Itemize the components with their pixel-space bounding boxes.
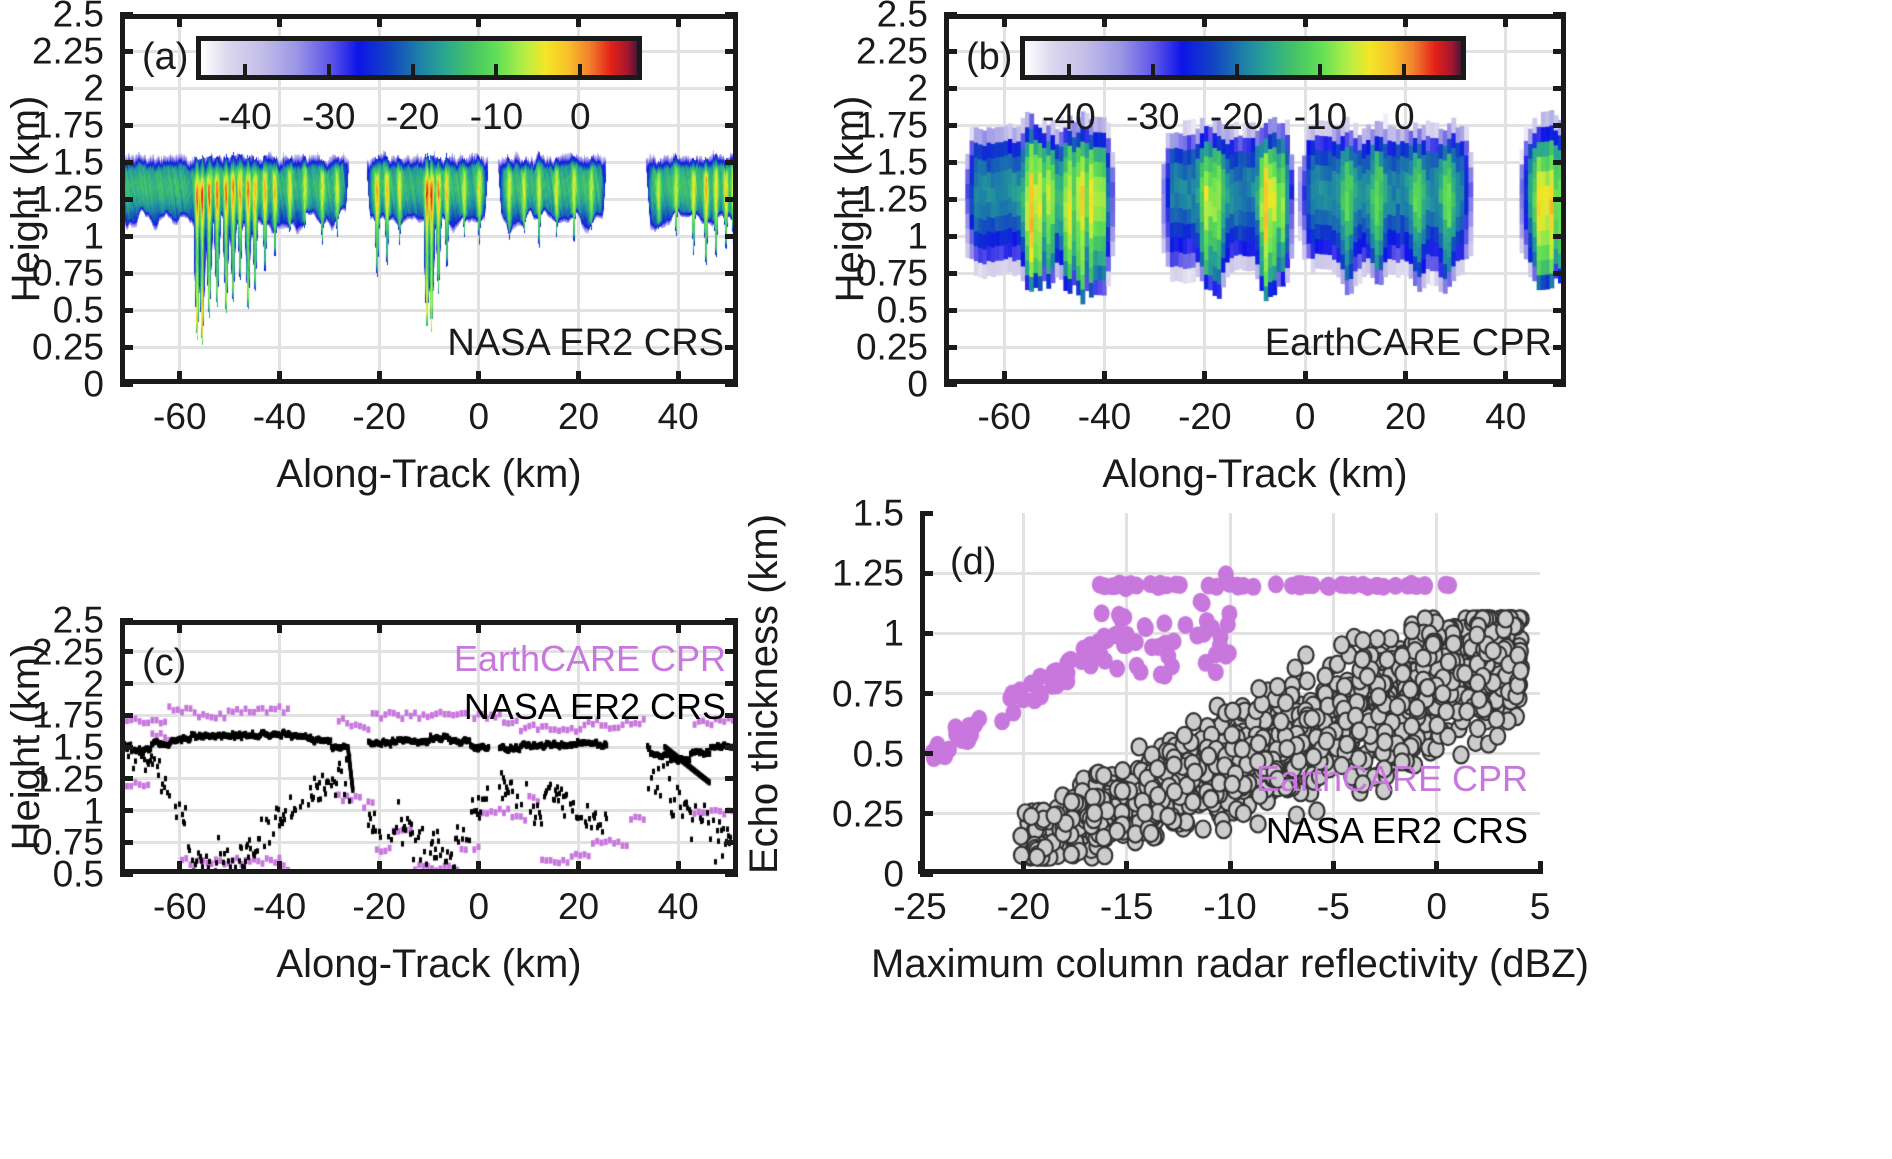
x-tick-label: 40 <box>1485 398 1526 435</box>
x-tick <box>576 861 581 874</box>
x-tick-top <box>1002 14 1007 27</box>
y-tick <box>920 691 933 696</box>
y-tick <box>120 745 133 750</box>
y-tick-right <box>725 160 738 165</box>
y-tick <box>120 197 133 202</box>
y-tick-right <box>725 618 738 623</box>
colorbar-tick <box>1318 64 1322 75</box>
y-tick <box>944 382 957 387</box>
x-tick-label: 0 <box>469 888 490 925</box>
y-tick-right <box>725 271 738 276</box>
x-tick-label: -20 <box>352 398 405 435</box>
panel-letter-c: (c) <box>142 642 186 685</box>
x-tick <box>1538 861 1543 874</box>
x-tick <box>476 861 481 874</box>
y-tick-right <box>725 197 738 202</box>
colorbar-tick <box>494 64 498 75</box>
colorbar-tick-label: 0 <box>570 96 591 138</box>
y-tick-label: 1 <box>883 615 904 652</box>
x-tick-label: 40 <box>658 398 699 435</box>
colorbar-tick <box>243 64 247 75</box>
y-tick-label: 2 <box>907 70 928 107</box>
y-tick <box>120 681 133 686</box>
x-tick <box>576 371 581 384</box>
x-tick-label: -5 <box>1317 888 1350 925</box>
x-tick-label: 20 <box>1385 398 1426 435</box>
figure-root: 00.250.50.7511.251.51.7522.252.5-60-40-2… <box>0 0 1892 1159</box>
y-tick-right <box>1553 49 1566 54</box>
y-tick <box>120 345 133 350</box>
x-tick <box>1202 371 1207 384</box>
x-tick-label: 5 <box>1530 888 1551 925</box>
x-tick <box>676 371 681 384</box>
y-axis-title-d: Echo thickness (km) <box>742 513 787 873</box>
colorbar-tick-label: -30 <box>302 96 355 138</box>
x-tick-label: -20 <box>352 888 405 925</box>
y-tick <box>120 271 133 276</box>
y-tick-right <box>725 49 738 54</box>
colorbar-a <box>196 36 642 80</box>
legend-entry-d-1: NASA ER2 CRS <box>1266 810 1528 852</box>
x-tick <box>1021 861 1026 874</box>
colorbar-tick <box>411 64 415 75</box>
y-tick-right <box>725 713 738 718</box>
x-tick-label: -20 <box>997 888 1050 925</box>
x-tick-label: 0 <box>1426 888 1447 925</box>
colorbar-tick <box>1402 64 1406 75</box>
y-tick-label: 1 <box>83 218 104 255</box>
colorbar-tick-label: -40 <box>1042 96 1095 138</box>
y-tick-right <box>1553 234 1566 239</box>
y-tick <box>120 713 133 718</box>
colorbar-b <box>1020 36 1466 80</box>
y-tick-label: 2.25 <box>856 33 928 70</box>
colorbar-tick-label: -30 <box>1126 96 1179 138</box>
y-tick-right <box>1553 308 1566 313</box>
x-tick-label: -15 <box>1100 888 1153 925</box>
x-tick <box>377 371 382 384</box>
x-tick <box>1434 861 1439 874</box>
y-tick-label: 1.5 <box>53 144 104 181</box>
y-tick <box>120 86 133 91</box>
x-tick-top <box>277 14 282 27</box>
x-tick-top <box>576 14 581 27</box>
x-tick <box>1403 371 1408 384</box>
panel-letter-d: (d) <box>950 541 996 584</box>
x-tick-label: 0 <box>1295 398 1316 435</box>
x-tick <box>177 861 182 874</box>
panel-annotation-a: NASA ER2 CRS <box>447 322 724 365</box>
y-tick-right <box>725 345 738 350</box>
y-tick-right <box>725 12 738 17</box>
y-tick <box>120 618 133 623</box>
x-axis-title-b: Along-Track (km) <box>1102 452 1407 497</box>
colorbar-tick-label: -10 <box>1294 96 1347 138</box>
y-tick <box>920 751 933 756</box>
x-tick-label: -25 <box>893 888 946 925</box>
x-tick-label: 0 <box>469 398 490 435</box>
x-tick-top <box>1102 14 1107 27</box>
y-tick <box>944 271 957 276</box>
x-tick-top <box>576 620 581 633</box>
y-tick <box>120 840 133 845</box>
y-tick-label: 2.5 <box>53 0 104 33</box>
x-tick <box>377 861 382 874</box>
x-tick-top <box>676 620 681 633</box>
y-axis-title-c: Height (km) <box>4 644 49 851</box>
x-tick-label: -20 <box>1178 398 1231 435</box>
y-axis-title-b: Height (km) <box>828 96 873 303</box>
y-tick-label: 1 <box>907 218 928 255</box>
y-tick <box>944 197 957 202</box>
legend-entry-c-1: NASA ER2 CRS <box>464 686 726 728</box>
colorbar-frame-a <box>196 36 642 80</box>
x-tick-label: 20 <box>558 888 599 925</box>
y-tick <box>944 12 957 17</box>
x-tick-label: -60 <box>977 398 1030 435</box>
y-tick-right <box>725 649 738 654</box>
x-tick <box>676 861 681 874</box>
colorbar-frame-b <box>1020 36 1466 80</box>
y-tick-right <box>1553 382 1566 387</box>
y-tick <box>944 49 957 54</box>
y-tick-label: 0.5 <box>853 735 904 772</box>
y-tick-right <box>725 308 738 313</box>
colorbar-gradient-b <box>1025 41 1461 75</box>
x-tick-top <box>1303 14 1308 27</box>
y-tick <box>920 511 933 516</box>
y-tick <box>944 234 957 239</box>
y-tick-right <box>1553 345 1566 350</box>
x-axis-title-d: Maximum column radar reflectivity (dBZ) <box>871 942 1589 987</box>
y-tick <box>120 808 133 813</box>
y-tick-label: 2.5 <box>53 602 104 639</box>
y-tick-label: 0.5 <box>877 292 928 329</box>
x-tick <box>1124 861 1129 874</box>
colorbar-tick-label: 0 <box>1394 96 1415 138</box>
y-tick-label: 0.5 <box>53 292 104 329</box>
y-tick-right <box>1553 12 1566 17</box>
x-axis-title-a: Along-Track (km) <box>276 452 581 497</box>
x-tick <box>476 371 481 384</box>
y-tick-label: 0.25 <box>32 329 104 366</box>
x-tick-top <box>377 620 382 633</box>
colorbar-tick-label: -20 <box>1210 96 1263 138</box>
y-tick-right <box>725 776 738 781</box>
panel-letter-a: (a) <box>142 36 188 79</box>
y-tick-right <box>1553 271 1566 276</box>
x-tick <box>277 371 282 384</box>
panel-letter-b: (b) <box>966 36 1012 79</box>
colorbar-tick <box>327 64 331 75</box>
legend-entry-d-0: EarthCARE CPR <box>1256 758 1528 800</box>
y-tick <box>944 345 957 350</box>
x-tick-top <box>1202 14 1207 27</box>
y-tick-right <box>725 681 738 686</box>
x-tick-top <box>177 620 182 633</box>
y-tick-label: 0.25 <box>832 795 904 832</box>
y-tick-right <box>725 382 738 387</box>
y-tick-right <box>725 808 738 813</box>
x-tick-top <box>377 14 382 27</box>
x-tick-label: -40 <box>253 398 306 435</box>
colorbar-tick <box>1235 64 1239 75</box>
y-tick <box>920 811 933 816</box>
x-tick-top <box>676 14 681 27</box>
colorbar-tick <box>578 64 582 75</box>
x-tick <box>1331 861 1336 874</box>
y-tick-label: 0.25 <box>856 329 928 366</box>
y-tick-label: 0.75 <box>832 675 904 712</box>
x-tick-top <box>277 620 282 633</box>
y-tick-right <box>725 123 738 128</box>
x-tick <box>1002 371 1007 384</box>
y-tick <box>120 872 133 877</box>
x-tick <box>918 861 923 874</box>
x-tick-label: -40 <box>253 888 306 925</box>
y-tick <box>120 382 133 387</box>
y-tick-right <box>1553 160 1566 165</box>
x-tick-label: -40 <box>1078 398 1131 435</box>
y-tick-label: 0 <box>83 366 104 403</box>
y-tick <box>120 160 133 165</box>
x-axis-title-c: Along-Track (km) <box>276 942 581 987</box>
x-tick-label: -60 <box>153 888 206 925</box>
colorbar-gradient-a <box>201 41 637 75</box>
x-tick-label: 40 <box>658 888 699 925</box>
y-tick <box>120 234 133 239</box>
x-tick-top <box>1403 14 1408 27</box>
y-axis-title-a: Height (km) <box>4 96 49 303</box>
x-tick <box>177 371 182 384</box>
y-tick <box>944 123 957 128</box>
x-tick <box>1503 371 1508 384</box>
x-tick-top <box>476 620 481 633</box>
y-tick <box>920 571 933 576</box>
x-tick-label: -10 <box>1203 888 1256 925</box>
x-tick <box>1228 861 1233 874</box>
x-tick <box>1102 371 1107 384</box>
x-tick-label: -60 <box>153 398 206 435</box>
y-tick-label: 1.5 <box>877 144 928 181</box>
y-tick-right <box>725 234 738 239</box>
y-tick-label: 0 <box>907 366 928 403</box>
y-tick <box>120 776 133 781</box>
y-tick-right <box>725 745 738 750</box>
y-tick-label: 2.5 <box>877 0 928 33</box>
y-tick <box>944 160 957 165</box>
x-tick-top <box>1503 14 1508 27</box>
x-tick-top <box>177 14 182 27</box>
y-tick-label: 1.25 <box>832 555 904 592</box>
colorbar-tick <box>1151 64 1155 75</box>
y-tick-right <box>725 872 738 877</box>
y-tick <box>120 49 133 54</box>
y-tick <box>944 86 957 91</box>
y-tick-right <box>1553 86 1566 91</box>
y-tick-right <box>725 86 738 91</box>
y-tick <box>120 308 133 313</box>
colorbar-tick <box>1067 64 1071 75</box>
y-tick-label: 1.5 <box>853 495 904 532</box>
y-tick-label: 2 <box>83 70 104 107</box>
x-tick <box>277 861 282 874</box>
y-tick <box>120 649 133 654</box>
y-tick <box>944 308 957 313</box>
y-tick-label: 2.25 <box>32 33 104 70</box>
legend-entry-c-0: EarthCARE CPR <box>454 638 726 680</box>
colorbar-tick-label: -20 <box>386 96 439 138</box>
y-tick <box>120 12 133 17</box>
x-tick <box>1303 371 1308 384</box>
x-tick-label: 20 <box>558 398 599 435</box>
colorbar-tick-label: -40 <box>218 96 271 138</box>
y-tick-right <box>1553 123 1566 128</box>
colorbar-tick-label: -10 <box>470 96 523 138</box>
y-tick <box>920 631 933 636</box>
y-tick <box>120 123 133 128</box>
y-tick-right <box>725 840 738 845</box>
x-tick-top <box>476 14 481 27</box>
y-tick-right <box>1553 197 1566 202</box>
panel-annotation-b: EarthCARE CPR <box>1265 322 1552 365</box>
